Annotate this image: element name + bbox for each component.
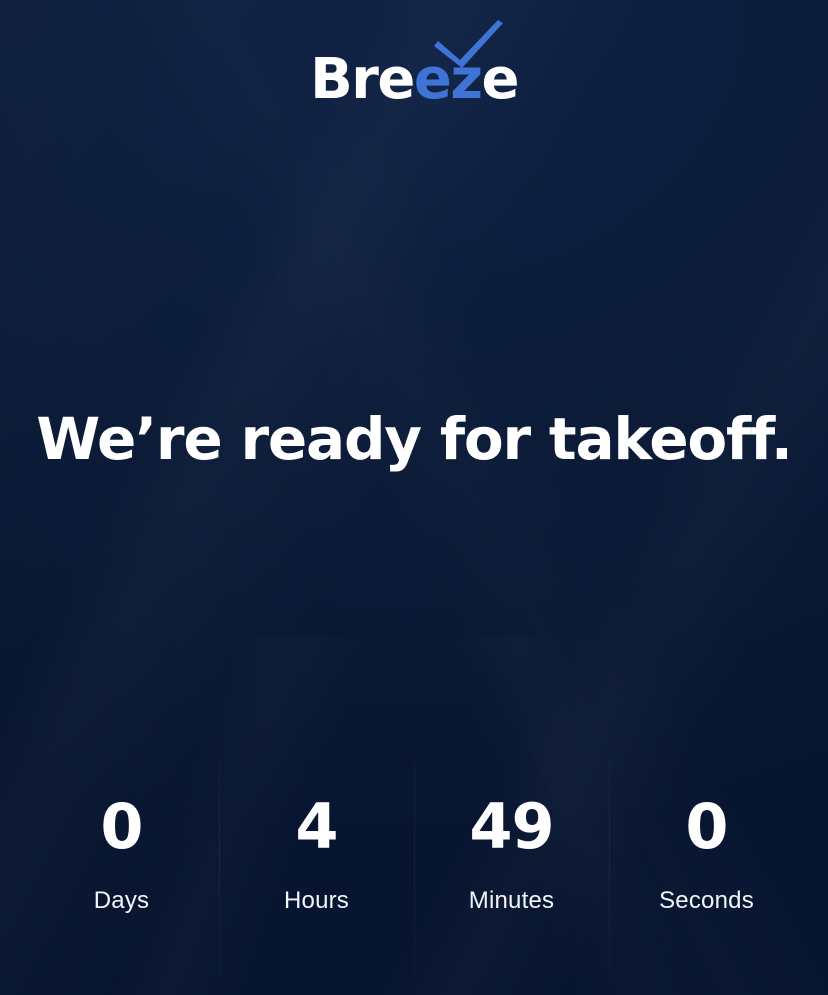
countdown-unit-seconds: 0 Seconds (609, 762, 804, 943)
countdown-unit-days: 0 Days (24, 762, 219, 943)
logo-wordmark-part-1: Bre (310, 47, 414, 112)
countdown-unit-hours: 4 Hours (219, 762, 414, 943)
breeze-logo[interactable]: Breeze (310, 52, 518, 108)
countdown-value-days: 0 (24, 796, 219, 858)
hero-section: We’re ready for takeoff. (0, 408, 828, 472)
coming-soon-page: Breeze We’re ready for takeoff. 0 Days 4… (0, 0, 828, 995)
countdown-timer: 0 Days 4 Hours 49 Minutes 0 Seconds (24, 762, 804, 943)
countdown-label-days: Days (24, 889, 219, 913)
countdown-label-minutes: Minutes (414, 889, 609, 913)
page-title: We’re ready for takeoff. (0, 408, 828, 472)
countdown-value-minutes: 49 (414, 796, 609, 858)
check-swoosh-icon (432, 19, 506, 69)
countdown-unit-minutes: 49 Minutes (414, 762, 609, 943)
countdown-value-seconds: 0 (609, 796, 804, 858)
countdown-label-hours: Hours (219, 889, 414, 913)
countdown-label-seconds: Seconds (609, 889, 804, 913)
countdown-value-hours: 4 (219, 796, 414, 858)
